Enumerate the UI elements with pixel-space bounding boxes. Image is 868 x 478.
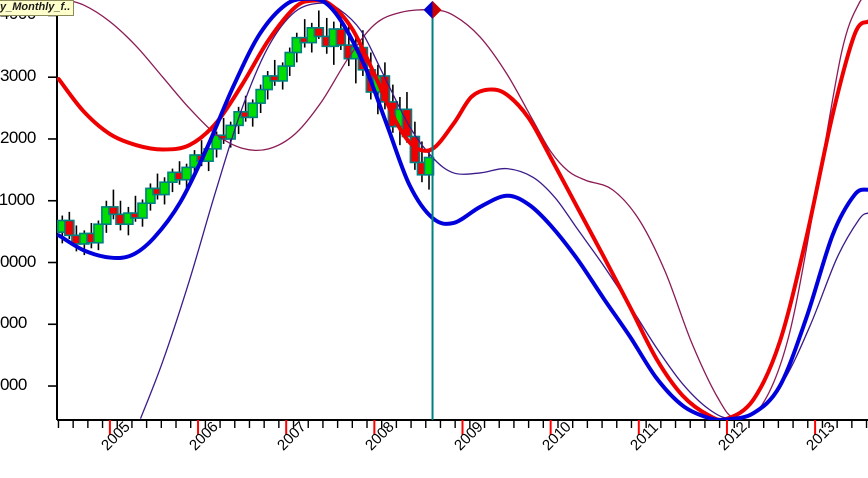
candle-body-up: [248, 103, 257, 117]
series-line-thick-red-forecast: [59, 0, 868, 420]
y-axis-tick-label: 11000: [0, 190, 53, 210]
series-line-thin-maroon-forecast: [59, 0, 868, 418]
candle-body-up: [160, 182, 169, 194]
cursor-diamond-left-half[interactable]: [424, 1, 433, 19]
y-axis-tick-label: 10000: [0, 252, 53, 272]
candle-body-down: [336, 29, 345, 45]
candle-body-down: [314, 28, 323, 37]
candle-body-up: [278, 66, 287, 81]
chart-canvas: [0, 0, 868, 478]
candle-body-down: [109, 207, 118, 214]
series-line-thin-navy-forecast: [141, 3, 868, 419]
candlestick-series: [58, 11, 434, 256]
candle-body-up: [182, 167, 191, 179]
candle-body-up: [138, 203, 147, 218]
y-axis-tick-label: 12000: [0, 128, 53, 148]
y-axis-tick-label: 13000: [0, 66, 53, 86]
candle-body-up: [285, 53, 294, 67]
candle-body-up: [94, 224, 103, 243]
candle-body-up: [256, 90, 265, 104]
chart-screenshot: y_Monthly_f.. 14000130001200011000100009…: [0, 0, 868, 478]
series-line-thick-blue-forecast: [59, 0, 868, 420]
y-axis-tick-label: 8000: [0, 375, 53, 395]
y-axis-tick-label: 9000: [0, 313, 53, 333]
cursor-diamond-right-half[interactable]: [433, 1, 442, 19]
series-tooltip-label: y_Monthly_f..: [0, 0, 74, 16]
candle-body-down: [65, 221, 74, 236]
